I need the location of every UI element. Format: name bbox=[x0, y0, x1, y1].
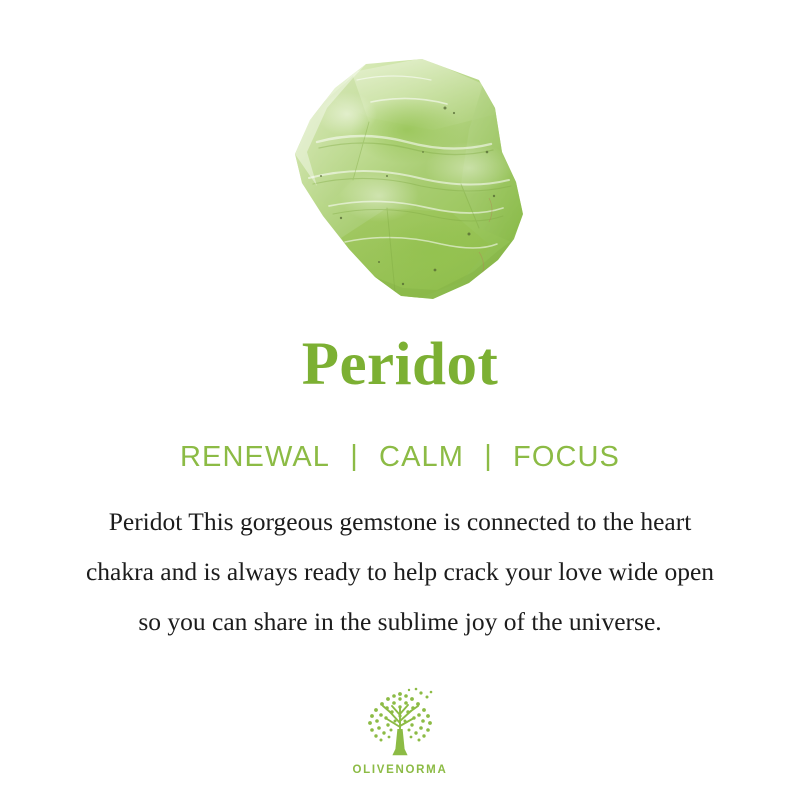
gemstone-info-card: Peridot RENEWAL | CALM | FOCUS Peridot T… bbox=[0, 0, 800, 800]
brand-logo: OLIVENORMA bbox=[0, 685, 800, 776]
peridot-stone-image bbox=[283, 56, 533, 306]
description-line: so you can share in the sublime joy of t… bbox=[22, 597, 778, 647]
peridot-crystal-icon bbox=[283, 56, 533, 306]
gemstone-keywords: RENEWAL | CALM | FOCUS bbox=[0, 441, 800, 474]
description-line: Peridot This gorgeous gemstone is connec… bbox=[22, 497, 778, 547]
description-line: chakra and is always ready to help crack… bbox=[22, 547, 778, 597]
gemstone-image-area bbox=[0, 0, 800, 318]
gemstone-description: Peridot This gorgeous gemstone is connec… bbox=[22, 497, 778, 647]
brand-name: OLIVENORMA bbox=[0, 764, 800, 776]
keyword-focus: FOCUS bbox=[513, 441, 620, 474]
olive-tree-logo-icon bbox=[359, 685, 441, 763]
keyword-calm: CALM bbox=[379, 441, 464, 474]
keyword-renewal: RENEWAL bbox=[180, 441, 330, 474]
keyword-separator: | bbox=[473, 440, 504, 473]
gemstone-title: Peridot bbox=[0, 333, 800, 397]
keyword-separator: | bbox=[339, 440, 370, 473]
